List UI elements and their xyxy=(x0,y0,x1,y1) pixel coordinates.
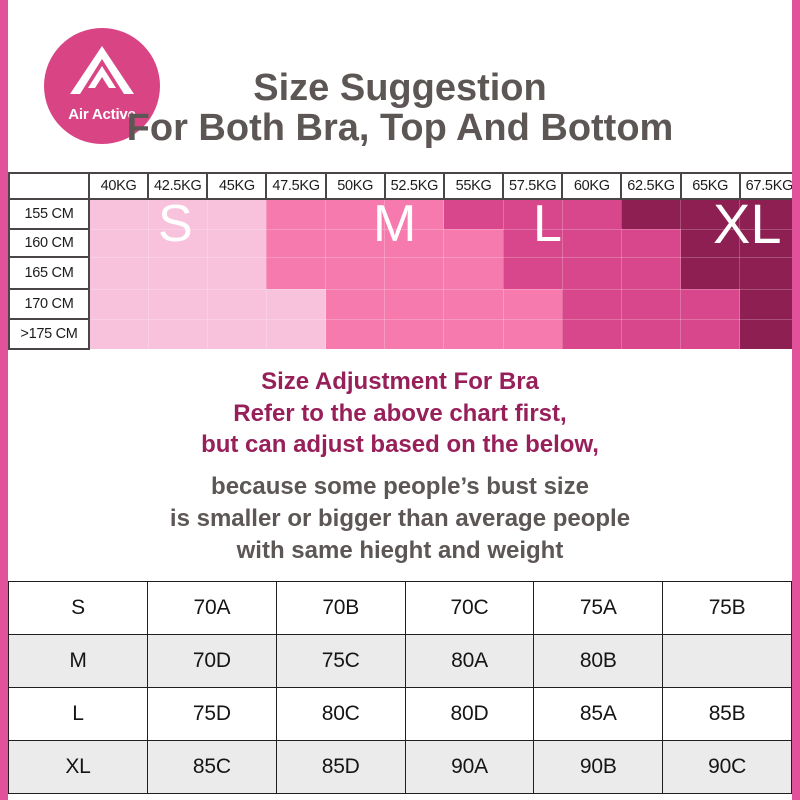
height-label-cell: 155 CM xyxy=(9,199,89,229)
bra-cup-cell: 90B xyxy=(534,741,663,794)
bra-cup-cell: 85A xyxy=(534,688,663,741)
bra-cup-cell: 70A xyxy=(148,582,277,635)
size-grid-body: 155 CM160 CM165 CM170 CM>175 CM xyxy=(9,199,799,349)
weight-header-cell: 45KG xyxy=(207,173,266,199)
size-grid-cell xyxy=(444,229,503,257)
weight-header-cell: 67.5KG xyxy=(740,173,799,199)
bra-size-label-cell: XL xyxy=(9,741,148,794)
size-grid-cell xyxy=(385,229,444,257)
size-grid-cell xyxy=(266,289,325,319)
bra-table-row: XL85C85D90A90B90C xyxy=(9,741,792,794)
note-body-line: with same hieght and weight xyxy=(8,535,792,567)
size-grid-cell xyxy=(562,257,621,289)
size-grid-cell xyxy=(89,229,148,257)
size-grid-corner-cell xyxy=(9,173,89,199)
size-grid-cell xyxy=(89,319,148,349)
size-grid-cell xyxy=(562,319,621,349)
size-grid-cell xyxy=(148,319,207,349)
height-label-cell: 165 CM xyxy=(9,257,89,289)
height-label-cell: 170 CM xyxy=(9,289,89,319)
size-grid-cell xyxy=(621,199,680,229)
weight-header-cell: 42.5KG xyxy=(148,173,207,199)
size-grid-cell xyxy=(562,199,621,229)
note-heading-line: Refer to the above chart first, xyxy=(8,398,792,430)
note-body-line: is smaller or bigger than average people xyxy=(8,503,792,535)
page-title-line2: For Both Bra, Top And Bottom xyxy=(8,108,792,148)
size-grid-cell xyxy=(148,229,207,257)
bra-size-label-cell: M xyxy=(9,635,148,688)
size-grid-cell xyxy=(562,229,621,257)
weight-header-cell: 52.5KG xyxy=(385,173,444,199)
size-grid-cell xyxy=(503,289,562,319)
size-grid-cell xyxy=(89,199,148,229)
size-grid-cell xyxy=(326,229,385,257)
size-grid-cell xyxy=(621,257,680,289)
bra-cup-cell: 75A xyxy=(534,582,663,635)
size-grid-cell xyxy=(681,289,740,319)
size-grid-cell xyxy=(740,229,799,257)
size-grid-cell xyxy=(740,257,799,289)
size-grid-cell xyxy=(148,289,207,319)
height-label-cell: 160 CM xyxy=(9,229,89,257)
note-heading-line: but can adjust based on the below, xyxy=(8,429,792,461)
weight-header-cell: 40KG xyxy=(89,173,148,199)
bra-cup-cell: 85C xyxy=(148,741,277,794)
page-title-line1: Size Suggestion xyxy=(8,68,792,108)
size-grid-row: 170 CM xyxy=(9,289,799,319)
bra-cup-cell: 75C xyxy=(276,635,405,688)
size-grid-cell xyxy=(266,319,325,349)
size-grid-cell xyxy=(621,289,680,319)
size-grid-row: >175 CM xyxy=(9,319,799,349)
size-grid-cell xyxy=(562,289,621,319)
size-grid-cell xyxy=(503,319,562,349)
size-grid-cell xyxy=(266,199,325,229)
bra-size-label-cell: S xyxy=(9,582,148,635)
bra-cup-cell: 70C xyxy=(405,582,534,635)
weight-header-cell: 60KG xyxy=(562,173,621,199)
bra-table-row: S70A70B70C75A75B xyxy=(9,582,792,635)
size-grid-cell xyxy=(89,289,148,319)
bra-cup-cell: 85D xyxy=(276,741,405,794)
bra-cup-cell: 80B xyxy=(534,635,663,688)
size-grid-cell xyxy=(503,199,562,229)
weight-header-cell: 57.5KG xyxy=(503,173,562,199)
bra-cup-cell: 75B xyxy=(663,582,792,635)
bra-cup-cell xyxy=(663,635,792,688)
size-grid-cell xyxy=(148,199,207,229)
size-grid-row: 155 CM xyxy=(9,199,799,229)
size-grid-cell xyxy=(681,199,740,229)
header: Air Active Size Suggestion For Both Bra,… xyxy=(8,0,792,172)
size-grid-cell xyxy=(326,199,385,229)
bra-size-table-body: S70A70B70C75A75BM70D75C80A80BL75D80C80D8… xyxy=(9,582,792,794)
size-grid-wrap: 40KG 42.5KG 45KG 47.5KG 50KG 52.5KG 55KG… xyxy=(8,172,800,350)
size-grid-cell xyxy=(740,199,799,229)
bra-cup-cell: 90C xyxy=(663,741,792,794)
bra-cup-cell: 80D xyxy=(405,688,534,741)
size-grid-cell xyxy=(444,319,503,349)
bra-cup-cell: 80C xyxy=(276,688,405,741)
weight-header-cell: 55KG xyxy=(444,173,503,199)
size-grid-cell xyxy=(503,257,562,289)
size-grid-cell xyxy=(207,199,266,229)
size-grid-cell xyxy=(207,229,266,257)
height-label-cell: >175 CM xyxy=(9,319,89,349)
note-body-line: because some people’s bust size xyxy=(8,471,792,503)
size-grid-cell xyxy=(326,289,385,319)
page-title: Size Suggestion For Both Bra, Top And Bo… xyxy=(8,68,792,149)
size-grid-cell xyxy=(681,229,740,257)
size-grid-cell xyxy=(740,319,799,349)
size-grid-cell xyxy=(207,319,266,349)
bra-table-row: L75D80C80D85A85B xyxy=(9,688,792,741)
size-grid-cell xyxy=(385,319,444,349)
size-grid-cell xyxy=(444,289,503,319)
size-grid-cell xyxy=(326,319,385,349)
size-grid-cell xyxy=(207,289,266,319)
size-grid-cell xyxy=(444,257,503,289)
size-grid-cell xyxy=(681,257,740,289)
weight-header-cell: 50KG xyxy=(326,173,385,199)
weight-header-cell: 47.5KG xyxy=(266,173,325,199)
size-grid-row: 165 CM xyxy=(9,257,799,289)
bra-cup-cell: 85B xyxy=(663,688,792,741)
bra-cup-cell: 70B xyxy=(276,582,405,635)
size-grid-cell xyxy=(681,319,740,349)
size-grid-cell xyxy=(385,257,444,289)
size-grid-cell xyxy=(740,289,799,319)
size-grid-table: 40KG 42.5KG 45KG 47.5KG 50KG 52.5KG 55KG… xyxy=(8,172,800,350)
size-adjustment-note: Size Adjustment For Bra Refer to the abo… xyxy=(8,366,792,567)
bra-table-row: M70D75C80A80B xyxy=(9,635,792,688)
size-grid-cell xyxy=(266,229,325,257)
bra-cup-cell: 80A xyxy=(405,635,534,688)
bra-size-table: S70A70B70C75A75BM70D75C80A80BL75D80C80D8… xyxy=(8,581,792,794)
size-grid-cell xyxy=(266,257,325,289)
size-grid-cell xyxy=(621,229,680,257)
size-grid-cell xyxy=(385,199,444,229)
size-grid-cell xyxy=(89,257,148,289)
size-grid-cell xyxy=(621,319,680,349)
size-grid-cell xyxy=(148,257,207,289)
size-grid-row: 160 CM xyxy=(9,229,799,257)
size-grid-cell xyxy=(503,229,562,257)
weight-header-cell: 62.5KG xyxy=(621,173,680,199)
bra-cup-cell: 90A xyxy=(405,741,534,794)
bra-size-label-cell: L xyxy=(9,688,148,741)
bra-cup-cell: 75D xyxy=(148,688,277,741)
size-grid-cell xyxy=(326,257,385,289)
weight-header-cell: 65KG xyxy=(681,173,740,199)
bra-cup-cell: 70D xyxy=(148,635,277,688)
note-heading-line: Size Adjustment For Bra xyxy=(8,366,792,398)
size-grid-cell xyxy=(444,199,503,229)
size-grid-cell xyxy=(385,289,444,319)
size-grid-header-row: 40KG 42.5KG 45KG 47.5KG 50KG 52.5KG 55KG… xyxy=(9,173,799,199)
size-chart-page: Air Active Size Suggestion For Both Bra,… xyxy=(0,0,800,800)
size-grid-cell xyxy=(207,257,266,289)
